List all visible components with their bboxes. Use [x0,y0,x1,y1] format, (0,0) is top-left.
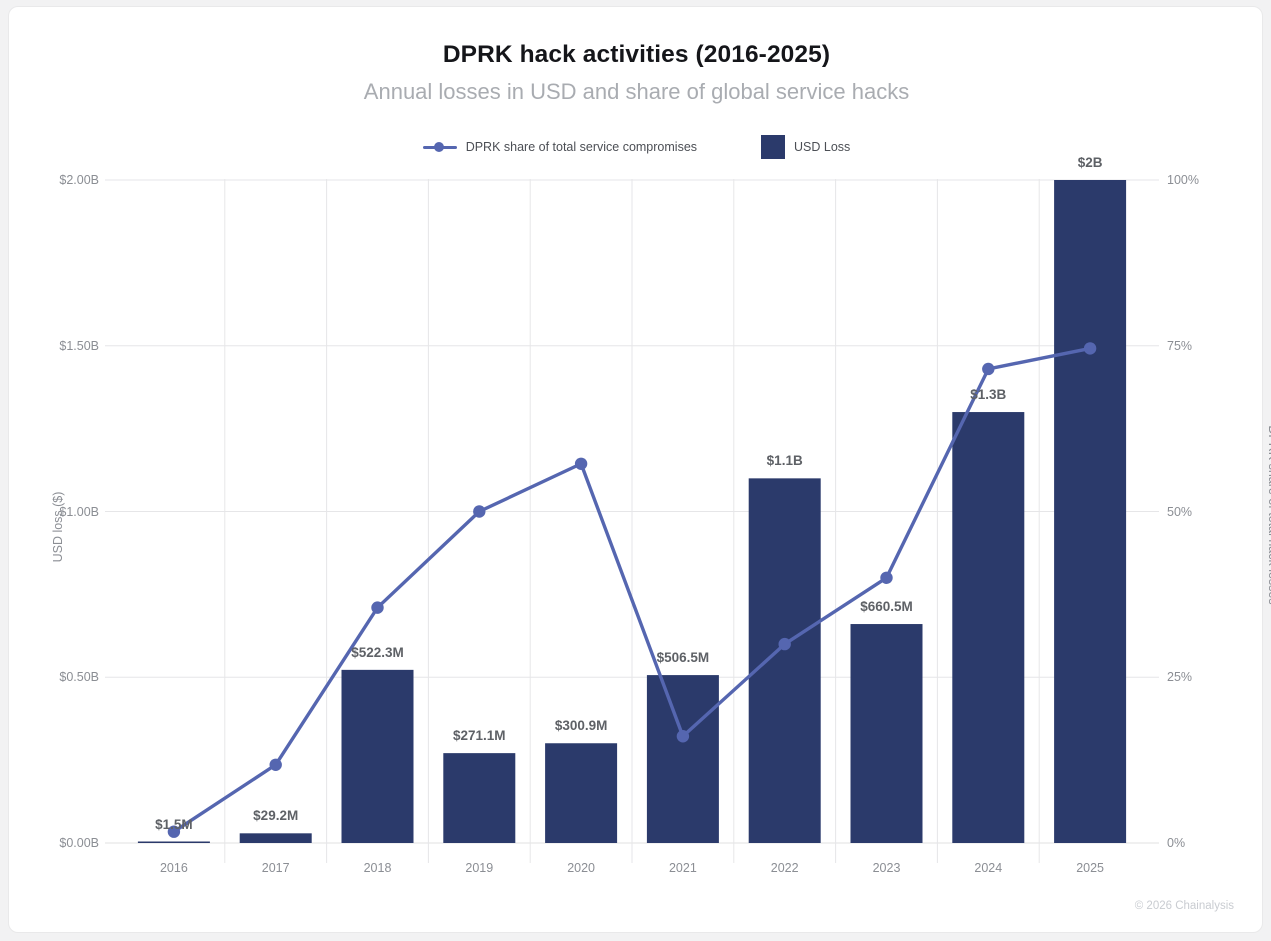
bar[interactable] [1054,180,1126,843]
line-marker[interactable] [982,363,994,375]
line-marker[interactable] [575,458,587,470]
y-axis-tick-right: 100% [1167,173,1237,187]
y-axis-tick-left: $0.50B [19,670,99,684]
bar-value-label: $1.3B [918,387,1058,402]
bar-value-label: $300.9M [511,718,651,733]
bar-value-label: $506.5M [613,650,753,665]
chart-svg [0,0,1271,941]
chart-page: DPRK hack activities (2016-2025) Annual … [0,0,1271,941]
bar[interactable] [443,753,515,843]
y-axis-tick-left: $2.00B [19,173,99,187]
bar[interactable] [647,675,719,843]
bar-value-label: $29.2M [206,808,346,823]
bar[interactable] [342,670,414,843]
x-axis-tick: 2025 [1045,861,1135,875]
bar[interactable] [545,743,617,843]
bar-value-label: $2B [1020,155,1160,170]
x-axis-tick: 2023 [842,861,932,875]
line-marker[interactable] [677,730,689,742]
bar[interactable] [952,412,1024,843]
x-axis-tick: 2018 [333,861,423,875]
bar-value-label: $522.3M [308,645,448,660]
bar[interactable] [749,478,821,843]
line-marker[interactable] [473,505,485,517]
x-axis-tick: 2017 [231,861,321,875]
bar[interactable] [138,842,210,844]
x-axis-tick: 2022 [740,861,830,875]
x-axis-tick: 2020 [536,861,626,875]
x-axis-tick: 2019 [434,861,524,875]
bar[interactable] [851,624,923,843]
line-marker[interactable] [1084,342,1096,354]
y-axis-label-right: DPRK share of total hack losses [1266,385,1271,645]
y-axis-tick-left: $0.00B [19,836,99,850]
bar[interactable] [240,833,312,843]
line-marker[interactable] [371,601,383,613]
line-marker[interactable] [270,759,282,771]
y-axis-tick-right: 25% [1167,670,1237,684]
x-axis-tick: 2021 [638,861,728,875]
x-axis-tick: 2016 [129,861,219,875]
x-axis-tick: 2024 [943,861,1033,875]
y-axis-tick-right: 50% [1167,505,1237,519]
y-axis-tick-left: $1.50B [19,339,99,353]
bar-value-label: $1.1B [715,453,855,468]
bar-value-label: $660.5M [817,599,957,614]
y-axis-tick-right: 0% [1167,836,1237,850]
line-marker[interactable] [880,572,892,584]
y-axis-tick-right: 75% [1167,339,1237,353]
chart-plot-area: $0.00B$0.50B$1.00B$1.50B$2.00B0%25%50%75… [0,0,1271,941]
line-marker[interactable] [779,638,791,650]
y-axis-label-left: USD loss ($) [51,447,65,607]
